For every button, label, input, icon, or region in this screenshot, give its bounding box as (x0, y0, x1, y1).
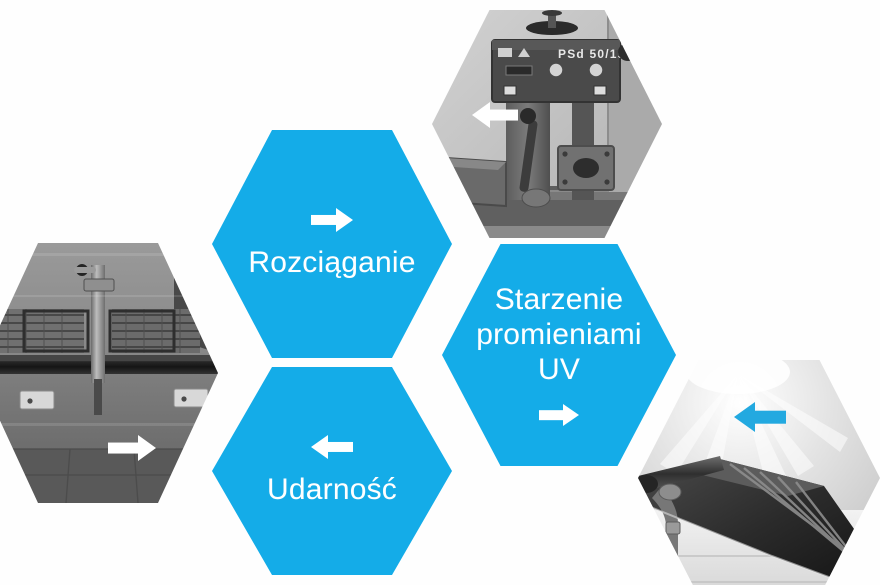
arrow-right-icon (108, 435, 156, 461)
tensile-test-photo-art (0, 243, 218, 503)
arrow-left-icon (311, 435, 353, 459)
hex-photo-roof-gutter[interactable] (638, 360, 880, 585)
hex-label-rozciaganie-text: Rozciąganie (248, 246, 415, 281)
svg-text:PSd 50/15: PSd 50/15 (558, 47, 626, 61)
hex-label-udarnosc-text: Udarność (267, 473, 397, 508)
hex-label-udarnosc[interactable]: Udarność (212, 367, 452, 575)
hex-label-rozciaganie[interactable]: Rozciąganie (212, 130, 452, 358)
arrow-right-icon (311, 208, 353, 232)
hex-photo-testing-machine[interactable]: PSd 50/15 (432, 10, 662, 238)
hex-label-starzenie-uv[interactable]: Starzenie promieniami UV (442, 244, 676, 466)
hex-photo-tensile-test[interactable] (0, 243, 218, 503)
arrow-left-icon (734, 402, 786, 432)
roof-gutter-photo-art (638, 360, 880, 585)
testing-machine-photo-art: PSd 50/15 (432, 10, 662, 238)
arrow-left-icon (472, 102, 518, 128)
arrow-right-icon (539, 404, 579, 427)
hexagon-infographic: Rozciąganie (0, 0, 880, 585)
hex-label-starzenie-uv-text: Starzenie promieniami UV (476, 283, 642, 387)
